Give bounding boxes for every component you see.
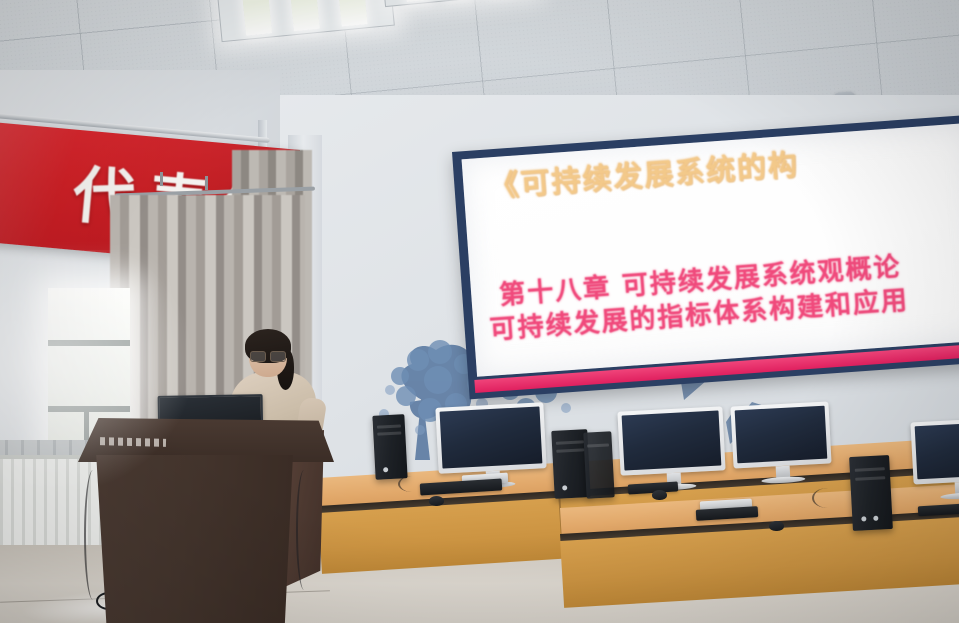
- cable: [812, 488, 844, 508]
- podium-label: [100, 437, 166, 447]
- monitor: [910, 418, 959, 485]
- banner-hook: [160, 172, 163, 186]
- pc-tower: [372, 414, 407, 480]
- pc-tower: [849, 455, 893, 531]
- mouse: [769, 521, 784, 531]
- monitor: [730, 401, 831, 468]
- banner-hook: [205, 176, 208, 190]
- projection-screen: 《可持续发展系统的构 第十八章 可持续发展系统观概论 可持续发展的指标体系构建和…: [452, 115, 959, 400]
- screen-surface: 《可持续发展系统的构 第十八章 可持续发展系统观概论 可持续发展的指标体系构建和…: [462, 123, 959, 377]
- podium-body: [88, 455, 293, 623]
- pc-tower: [583, 431, 614, 498]
- monitor: [617, 406, 725, 475]
- cable: [398, 476, 426, 492]
- photo-scene: 《可持续发展系统的构 第十八章 可持续发展系统观概论 可持续发展的指标体系构建和…: [0, 0, 959, 623]
- mouse: [652, 490, 667, 500]
- podium-cable: [296, 470, 312, 590]
- podium-cable: [84, 470, 102, 600]
- monitor: [435, 402, 546, 474]
- glasses-icon: [250, 351, 284, 360]
- mouse: [429, 496, 444, 506]
